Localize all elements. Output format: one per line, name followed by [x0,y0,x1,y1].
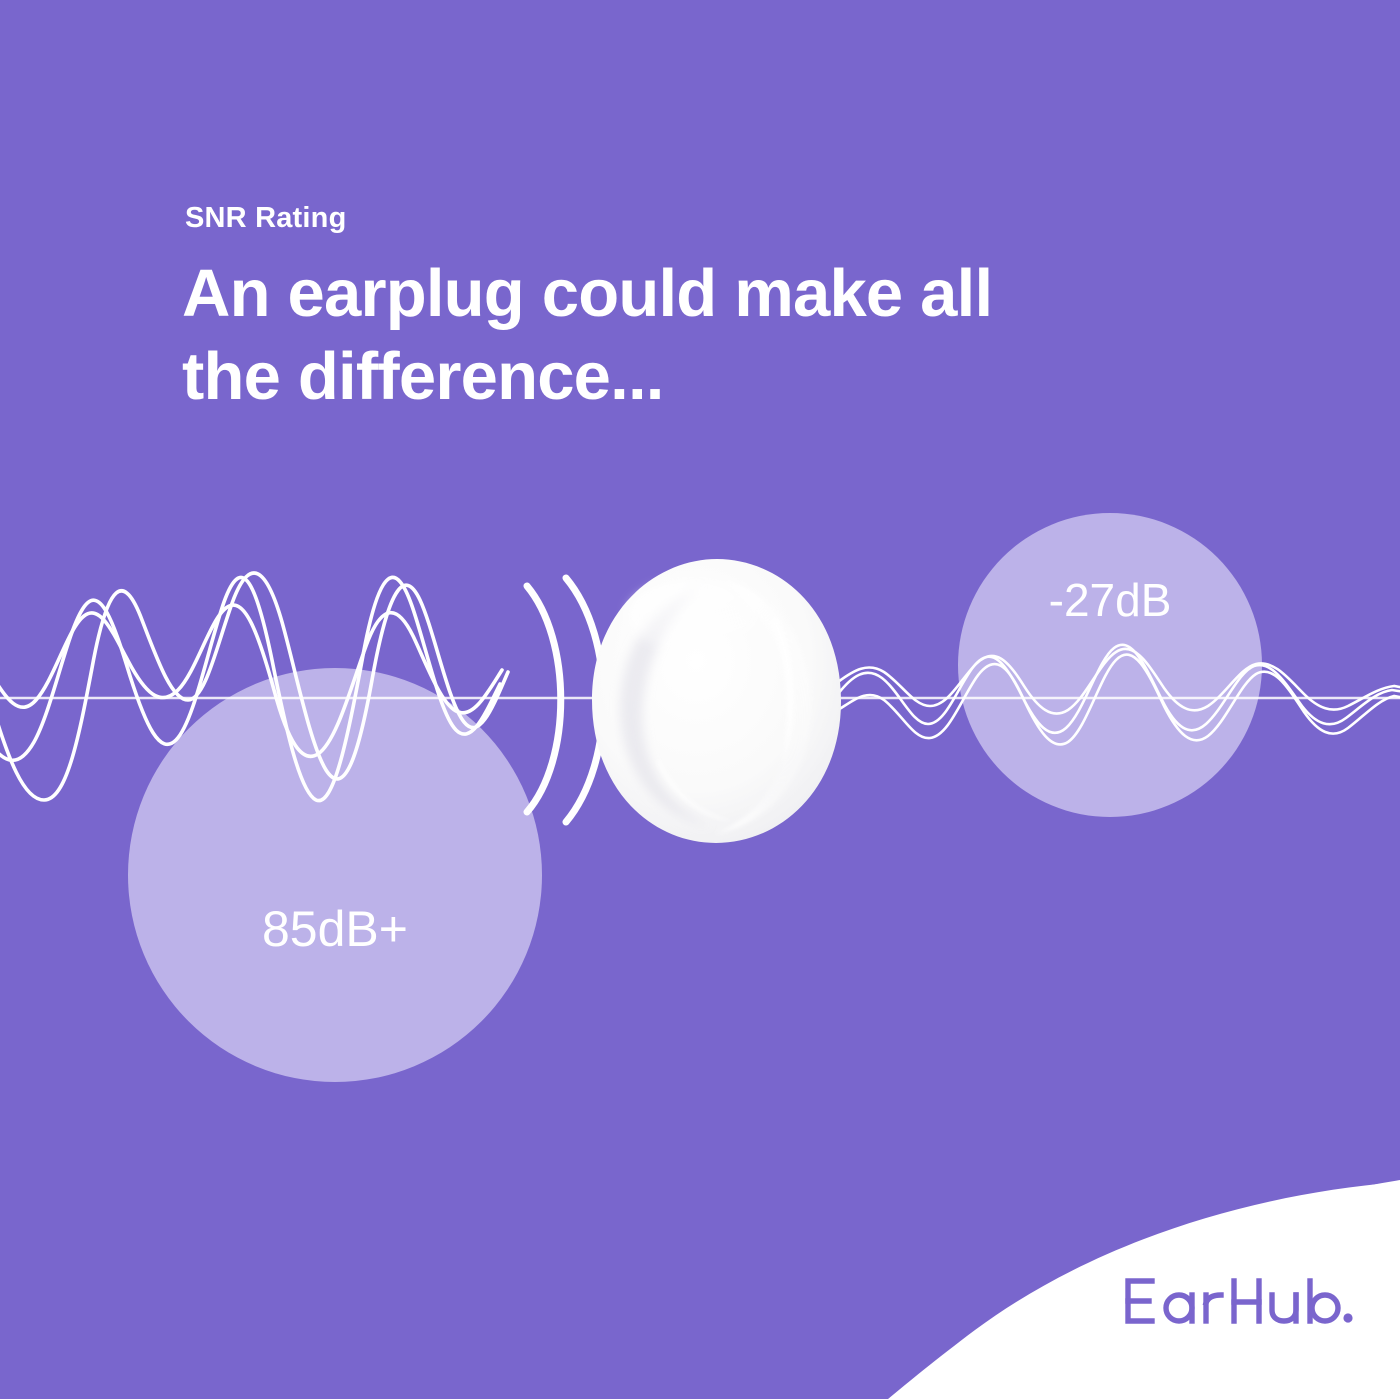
eyebrow-label: SNR Rating [185,204,347,233]
headline-line-1: An earplug could make all [182,252,1182,335]
loud-level-badge-label: 85dB+ [135,900,535,958]
logo-wordmark [1128,1281,1338,1321]
headline-line-2: the difference... [182,335,1182,418]
silicone-earplug [589,556,844,846]
promo-graphic: SNR Rating An earplug could make all the… [0,0,1400,1399]
earplug-top-sheen [627,580,759,652]
reduced-level-badge-label: -27dB [960,573,1260,627]
logo-period [1343,1313,1352,1322]
page-title: An earplug could make all the difference… [182,252,1182,418]
earhub-logo [1122,1275,1362,1331]
